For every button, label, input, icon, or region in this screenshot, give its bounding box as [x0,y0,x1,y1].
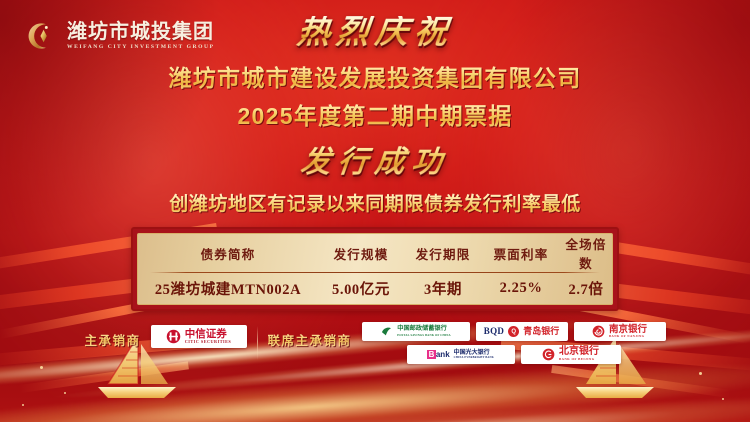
cell-bond-name: 25潍坊城建MTN002A [138,278,318,299]
headline-celebrate: 热烈庆祝 [295,16,455,51]
citic-en-name: CITIC SECURITIES [185,340,232,344]
joint-underwriter-logos: 中国邮政储蓄银行 POSTAL SAVINGS BANK OF CHINA BQ… [362,322,666,364]
nanjing-cn-name: 南京银行 [609,325,647,335]
beijing-cn-name: 北京银行 [559,347,599,357]
headline-issue-name: 2025年度第二期中期票据 [0,97,750,131]
sparkle-decoration [22,404,24,406]
headline-record-note: 创潍坊地区有记录以来同期限债券发行利率最低 [0,189,750,216]
bqd-cn-name: 青岛银行 [523,327,559,336]
lead-underwriter-label: 主承销商 [84,322,140,349]
bqd-mark-icon: Q [508,326,519,337]
logo-china-everbright-bank: B ank 中国光大银行 CHINA EVERBRIGHT BANK [407,345,515,364]
column-header-term: 发行期限 [404,244,482,263]
logo-english-name: WEIFANG CITY INVESTMENT GROUP [67,45,215,51]
nanjing-en-name: BANK OF NANJING [609,335,645,338]
psbc-cn-name: 中国邮政储蓄银行 [397,326,447,332]
company-logo: 潍坊市城投集团 WEIFANG CITY INVESTMENT GROUP [22,18,215,54]
everbright-cn-name: 中国光大银行 [454,350,490,356]
logo-citic-securities: 中信证券 CITIC SECURITIES [151,325,247,348]
sparkle-decoration [699,372,702,375]
cell-multiple: 2.7倍 [560,278,612,299]
citic-mark-icon [166,329,181,344]
column-header-multiple: 全场倍数 [560,234,612,272]
bond-table: 债券简称 发行规模 发行期限 票面利率 全场倍数 25潍坊城建MTN002A 5… [131,227,619,311]
celebration-poster: 潍坊市城投集团 WEIFANG CITY INVESTMENT GROUP 热烈… [0,0,750,422]
everbright-en-name: CHINA EVERBRIGHT BANK [454,357,494,360]
underwriters-section: 主承销商 中信证券 CITIC SECURITIES 联席主承销商 [0,322,750,364]
logo-chinese-name: 潍坊市城投集团 [67,22,215,42]
column-header-coupon: 票面利率 [482,244,560,263]
logo-bank-of-beijing: 北京银行 BANK OF BEIJING [521,345,621,364]
logo-bank-of-qingdao: BQD Q 青岛银行 [476,322,568,341]
section-separator [257,326,258,360]
logo-postal-savings-bank: 中国邮政储蓄银行 POSTAL SAVINGS BANK OF CHINA [362,322,470,341]
crescent-diamond-icon [22,18,58,54]
sparkle-decoration [64,392,66,394]
nanjing-mark-icon [592,325,605,338]
sparkle-decoration [40,366,43,369]
table-row: 25潍坊城建MTN002A 5.00亿元 3年期 2.25% 2.7倍 [138,273,612,304]
everbright-mark-icon: B ank [427,350,450,359]
bqd-en-name: BQD [484,327,504,336]
psbc-mark-icon [380,325,393,338]
cell-issue-size: 5.00亿元 [318,278,404,299]
cell-term: 3年期 [404,278,482,299]
cell-coupon: 2.25% [482,280,560,297]
table-header-row: 债券简称 发行规模 发行期限 票面利率 全场倍数 [138,234,612,272]
citic-cn-name: 中信证券 [185,329,227,340]
column-header-issue-size: 发行规模 [318,244,404,263]
column-header-bond-name: 债券简称 [138,244,318,263]
psbc-en-name: POSTAL SAVINGS BANK OF CHINA [397,334,451,337]
beijing-mark-icon [542,348,555,361]
joint-underwriter-label: 联席主承销商 [268,322,352,349]
logo-bank-of-nanjing: 南京银行 BANK OF NANJING [574,322,666,341]
headline-success: 发行成功 [299,137,452,181]
headline-company-name: 潍坊市城市建设发展投资集团有限公司 [0,59,750,93]
beijing-en-name: BANK OF BEIJING [559,358,595,361]
sparkle-decoration [722,398,724,400]
